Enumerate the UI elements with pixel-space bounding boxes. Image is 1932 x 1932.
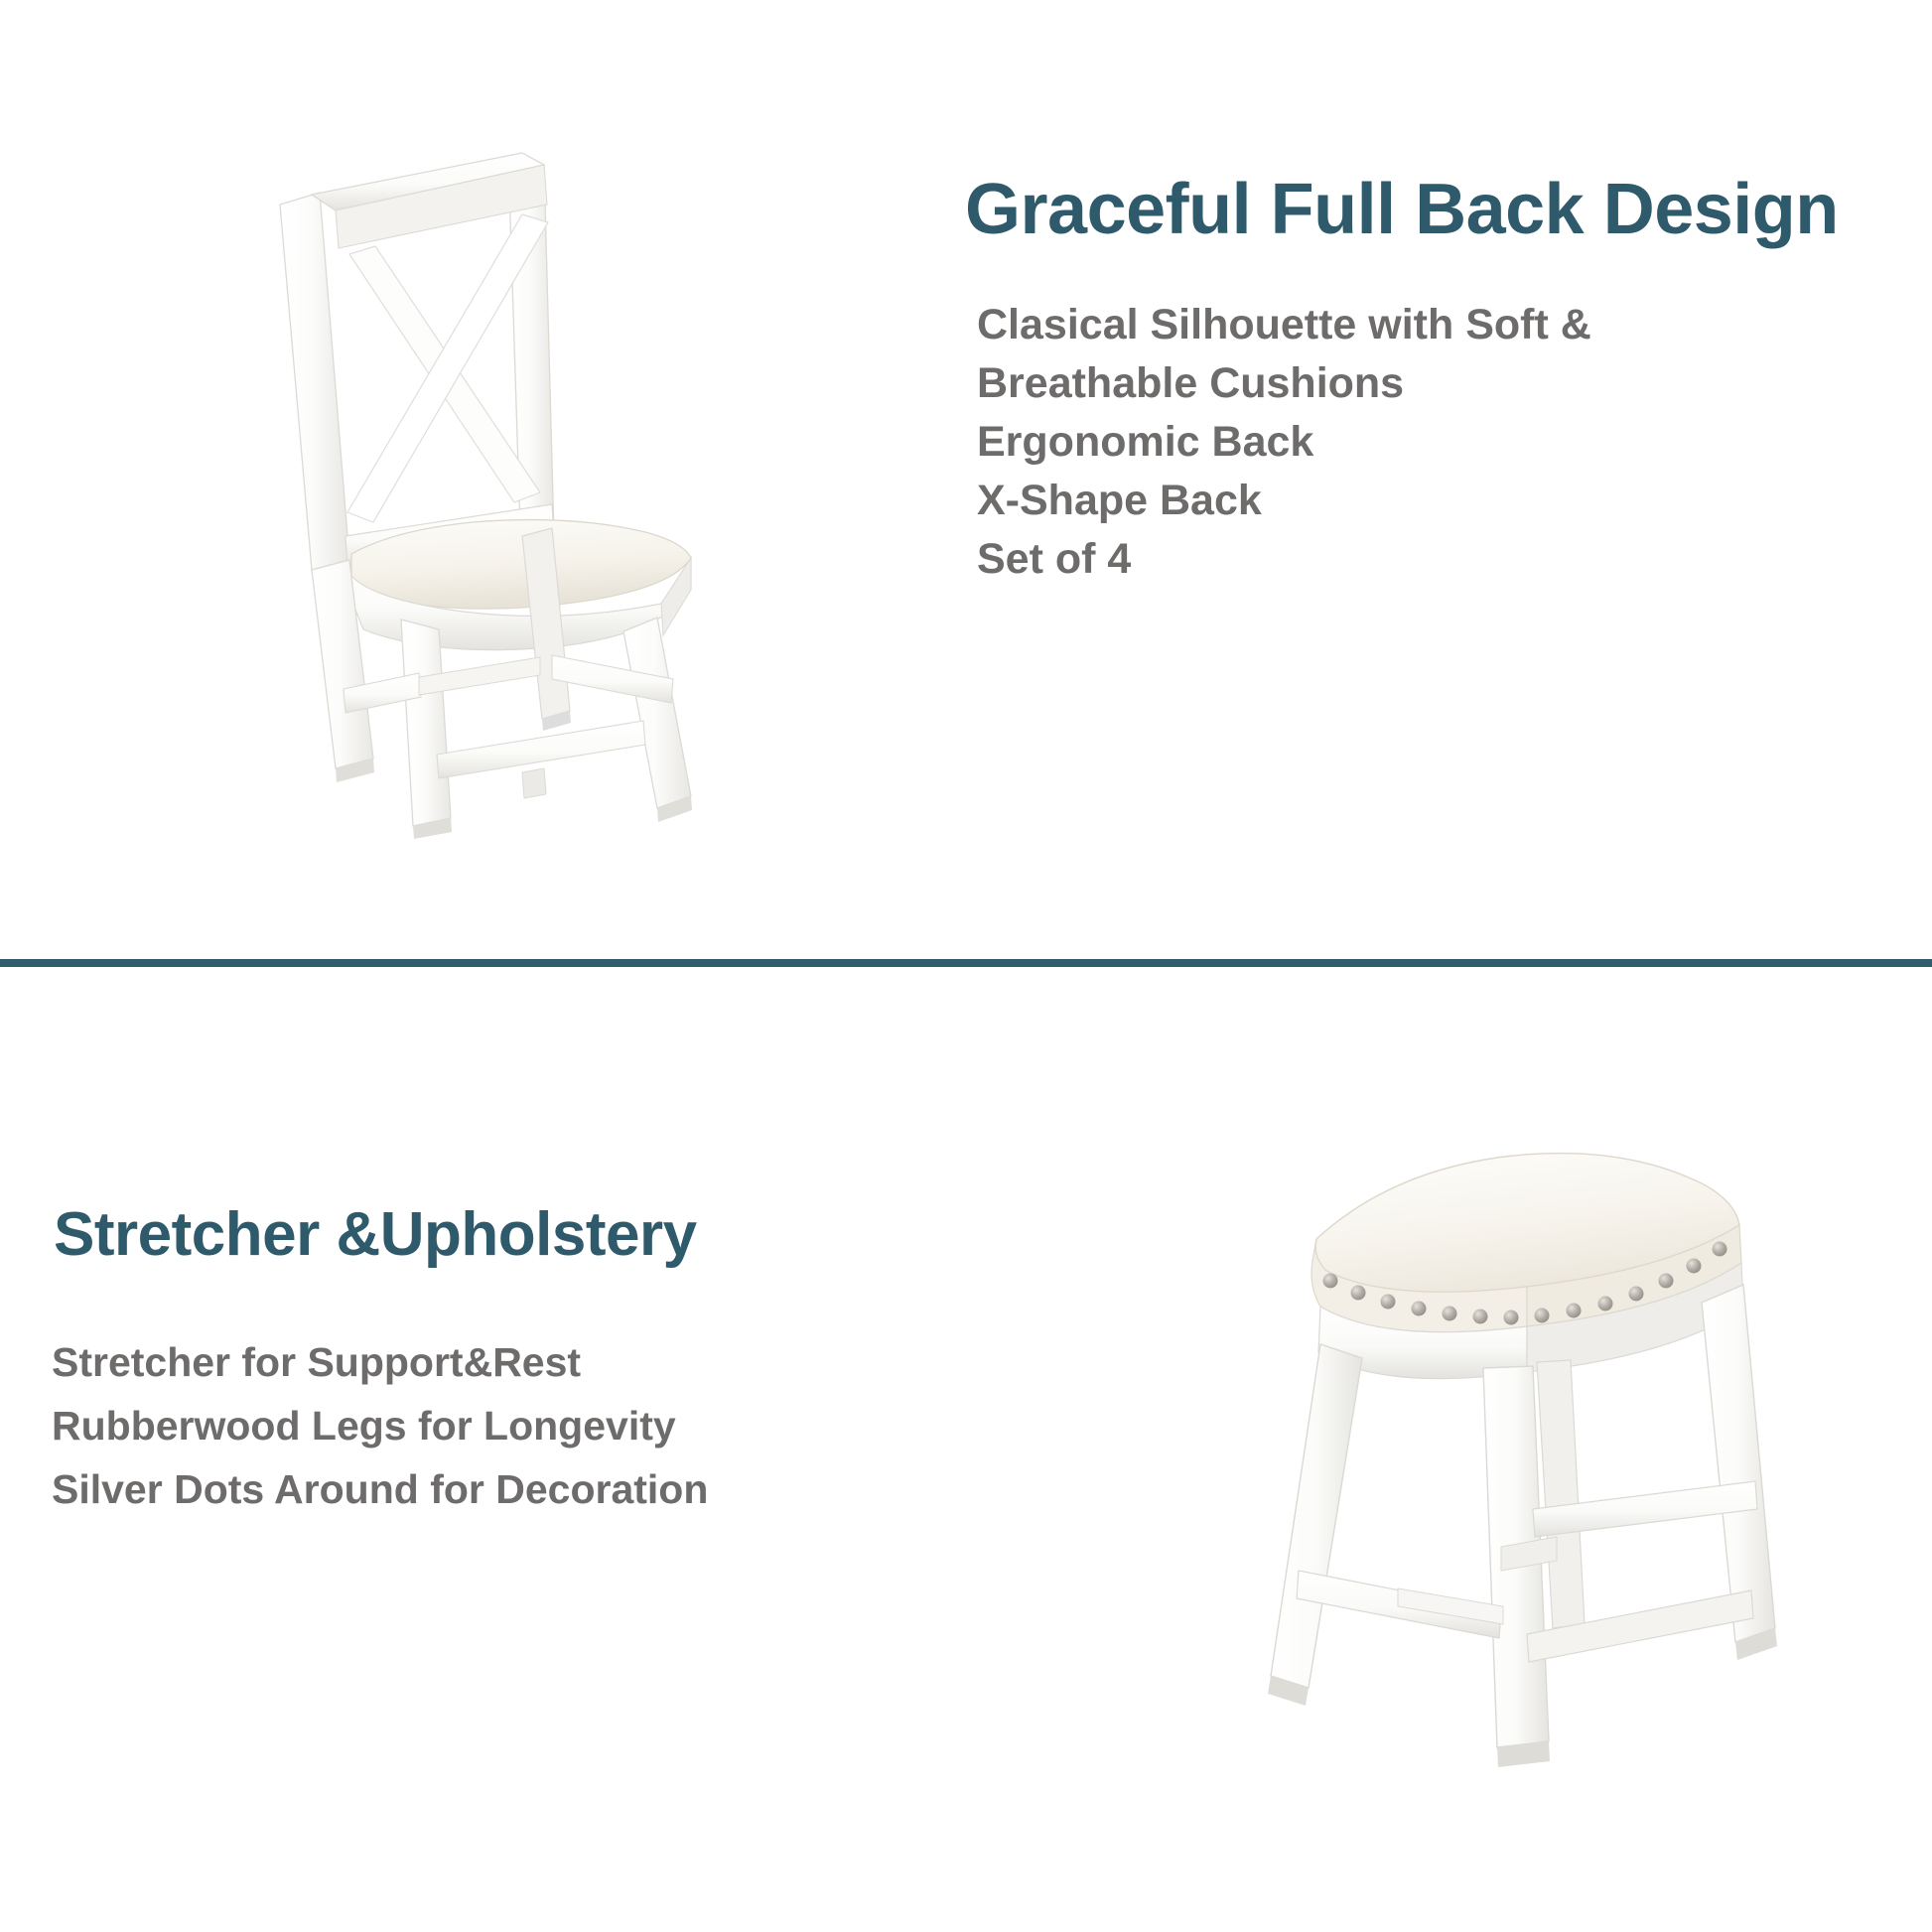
- feature-list-bottom: Stretcher for Support&Rest Rubberwood Le…: [52, 1330, 925, 1521]
- counter-stool-image: [1199, 1122, 1795, 1817]
- section-divider: [0, 959, 1932, 967]
- section-stretcher-and-upholstery: Stretcher &Upholstery Stretcher for Supp…: [0, 967, 1932, 1932]
- feature-item: Stretcher for Support&Rest: [52, 1330, 925, 1394]
- x-back-chair-illustration: [224, 87, 721, 842]
- section-heading-graceful-full-back-design: Graceful Full Back Design: [965, 167, 1932, 252]
- feature-item: X-Shape Back: [977, 472, 1932, 530]
- feature-item: Clasical Silhouette with Soft &: [977, 296, 1932, 354]
- section-heading-stretcher-and-upholstery: Stretcher &Upholstery: [54, 1197, 925, 1273]
- feature-list-top: Clasical Silhouette with Soft & Breathab…: [977, 296, 1932, 589]
- copy-block-top: Graceful Full Back Design Clasical Silho…: [965, 167, 1932, 589]
- feature-item: Set of 4: [977, 530, 1932, 589]
- copy-block-bottom: Stretcher &Upholstery Stretcher for Supp…: [52, 1197, 925, 1521]
- feature-item: Silver Dots Around for Decoration: [52, 1457, 925, 1521]
- feature-item: Breathable Cushions: [977, 354, 1932, 413]
- feature-item: Rubberwood Legs for Longevity: [52, 1394, 925, 1457]
- feature-item: Ergonomic Back: [977, 413, 1932, 472]
- counter-stool-illustration: [1199, 1122, 1795, 1817]
- x-back-chair-image: [224, 87, 721, 842]
- section-graceful-full-back-design: Graceful Full Back Design Clasical Silho…: [0, 0, 1932, 959]
